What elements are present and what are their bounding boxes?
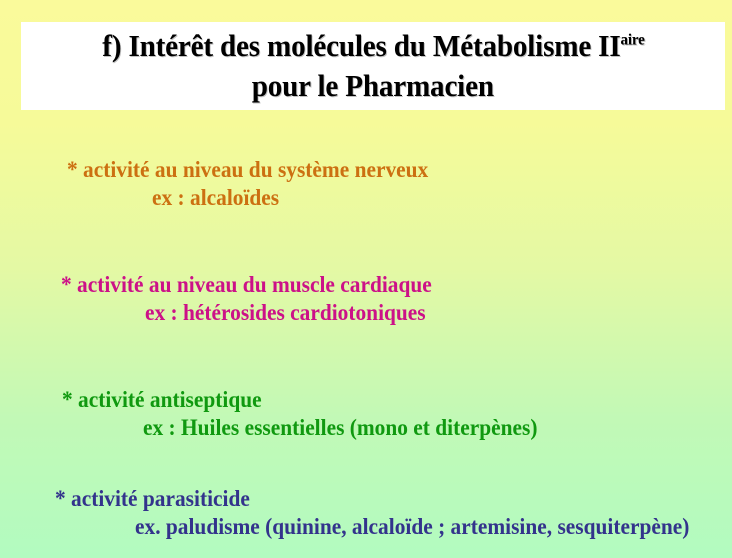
title-line-1-text: f) Intérêt des molécules du Métabolisme … <box>102 28 620 63</box>
block-1-heading: * activité au niveau du système nerveux <box>67 156 685 183</box>
content-block-antiseptic: * activité antiseptique ex : Huiles esse… <box>0 386 732 441</box>
slide-canvas: f) Intérêt des molécules du Métabolisme … <box>0 0 732 558</box>
body-content: * activité au niveau du système nerveux … <box>0 110 732 558</box>
title-line-2: pour le Pharmacien <box>252 66 494 106</box>
title-box: f) Intérêt des molécules du Métabolisme … <box>21 22 725 110</box>
block-4-heading: * activité parasiticide <box>55 485 685 512</box>
block-3-heading: * activité antiseptique <box>62 386 685 413</box>
block-2-example: ex : hétérosides cardiotoniques <box>145 299 691 326</box>
block-1-example: ex : alcaloïdes <box>152 184 691 211</box>
block-3-example: ex : Huiles essentielles (mono et diterp… <box>143 414 691 441</box>
content-block-cardiac-muscle: * activité au niveau du muscle cardiaque… <box>0 271 732 326</box>
content-block-parasiticide: * activité parasiticide ex. paludisme (q… <box>0 485 732 540</box>
title-line-1: f) Intérêt des molécules du Métabolisme … <box>102 26 644 66</box>
block-2-heading: * activité au niveau du muscle cardiaque <box>61 271 685 298</box>
block-4-example: ex. paludisme (quinine, alcaloïde ; arte… <box>135 513 690 540</box>
title-superscript-aire: aire <box>620 32 644 49</box>
content-block-nervous-system: * activité au niveau du système nerveux … <box>0 156 732 211</box>
